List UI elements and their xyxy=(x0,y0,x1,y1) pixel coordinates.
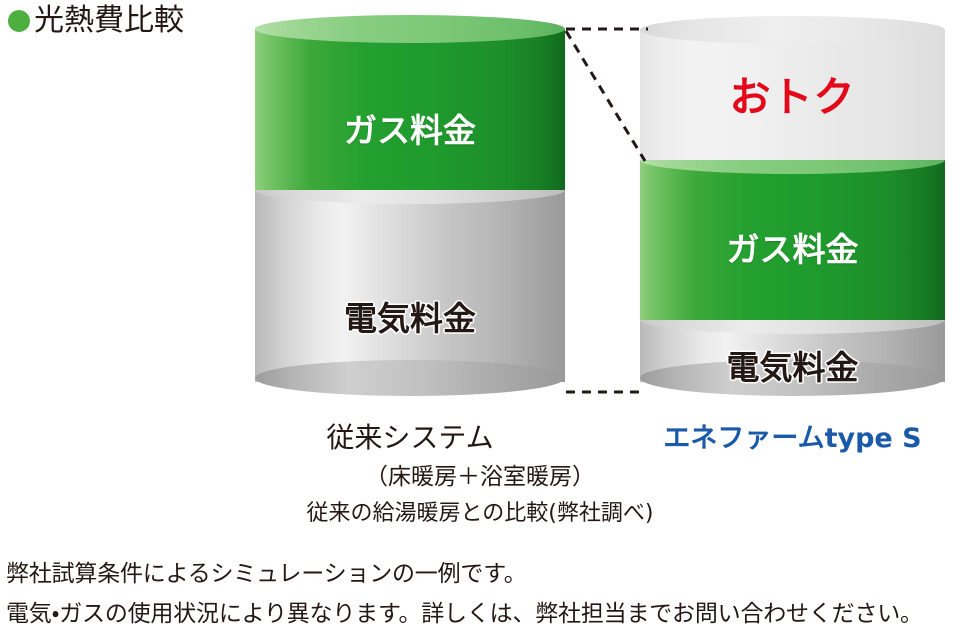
cap-gas-right xyxy=(640,146,945,174)
energy-cost-comparison-figure: 光熱費比較 ガス料金 電気料金 xyxy=(0,0,960,636)
cylinder-conventional: ガス料金 電気料金 xyxy=(255,14,565,414)
caption-conventional: 従来システム xyxy=(255,424,565,452)
band-electric-right xyxy=(640,320,945,382)
cap-savings-right xyxy=(640,16,945,44)
band-savings-right xyxy=(640,30,945,160)
chart-stage: ガス料金 電気料金 おトク ガス料金 電気料金 xyxy=(0,0,960,636)
caption-enefarm: エネファームtype S xyxy=(640,425,945,452)
page-title: 光熱費比較 xyxy=(8,6,184,36)
cap-electric-right xyxy=(640,306,945,334)
band-gas-right xyxy=(640,160,945,320)
label-gas-left: ガス料金 xyxy=(255,114,565,147)
cap-gas-left xyxy=(255,15,565,43)
label-electric-left: 電気料金 xyxy=(255,302,565,335)
cylinder-enefarm: おトク ガス料金 電気料金 xyxy=(640,14,945,414)
cap-electric-left xyxy=(255,176,565,204)
footnote-line-1: 弊社試算条件によるシミュレーションの一例です。 xyxy=(6,563,527,586)
label-gas-right: ガス料金 xyxy=(640,233,945,266)
connector-lines xyxy=(0,0,960,636)
connector-savings-diagonal xyxy=(566,31,645,161)
label-savings-right: おトク xyxy=(640,77,945,118)
footnote-line-2: 電気・ガスの使用状況により異なります。詳しくは、弊社担当までお問い合わせください… xyxy=(6,603,923,626)
page-title-text: 光熱費比較 xyxy=(34,6,184,36)
caption-sub-line1: （床暖房＋浴室暖房） xyxy=(0,466,960,489)
cylinder-bottom-cap-right xyxy=(640,360,945,396)
cylinder-bottom-cap-left xyxy=(255,360,565,396)
bullet-icon xyxy=(8,10,30,32)
label-electric-right: 電気料金 xyxy=(640,351,945,384)
band-electric-left xyxy=(255,190,565,382)
caption-sub-line2: 従来の給湯暖房との比較(弊社調べ) xyxy=(0,503,960,525)
band-gas-left xyxy=(255,29,565,190)
